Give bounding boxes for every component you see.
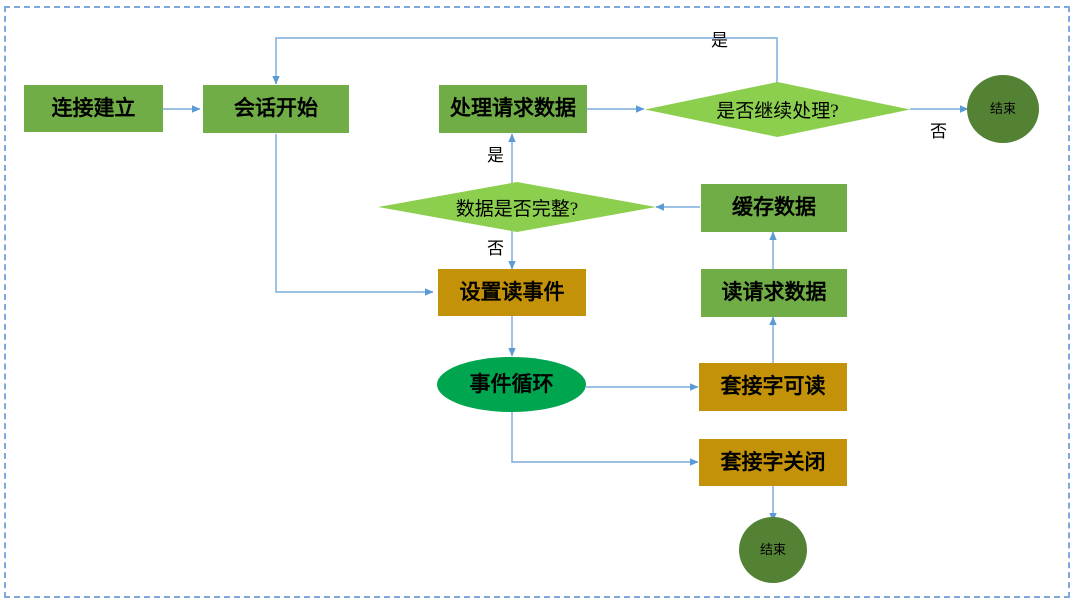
edge-label-no-complete: 否: [487, 234, 504, 259]
node-socket-closed[interactable]: 套接字关闭: [699, 439, 847, 486]
flowchart-canvas: 是 否 是 否 连接建立 会话开始 处理请求数据 是否继续处理? 结束 数据是否…: [0, 0, 1080, 611]
node-label: 套接字可读: [721, 375, 826, 398]
node-session-start[interactable]: 会话开始: [203, 85, 349, 133]
node-event-loop[interactable]: 事件循环: [437, 357, 586, 412]
node-connection-established[interactable]: 连接建立: [24, 85, 163, 132]
node-end-bottom[interactable]: 结束: [739, 517, 807, 583]
edge-cont-session-yes: [276, 38, 777, 87]
node-process-request-data[interactable]: 处理请求数据: [439, 85, 587, 133]
node-label: 设置读事件: [460, 281, 565, 304]
node-label: 结束: [760, 543, 786, 557]
edge-eventloop-sockclose: [512, 412, 698, 462]
node-socket-readable[interactable]: 套接字可读: [699, 363, 847, 411]
node-label: 会话开始: [234, 97, 318, 120]
edge-label-yes-continue: 是: [711, 26, 728, 51]
node-label: 数据是否完整?: [378, 182, 656, 232]
node-label: 连接建立: [52, 97, 136, 120]
node-label: 处理请求数据: [450, 97, 576, 120]
node-label: 缓存数据: [732, 196, 816, 219]
edge-label-no-continue: 否: [930, 117, 947, 142]
node-data-complete-decision[interactable]: 数据是否完整?: [378, 182, 656, 232]
node-cache-data[interactable]: 缓存数据: [701, 184, 847, 232]
node-read-request-data[interactable]: 读请求数据: [701, 269, 847, 317]
node-label: 事件循环: [470, 373, 554, 396]
node-continue-processing-decision[interactable]: 是否继续处理?: [645, 82, 910, 137]
node-end-top[interactable]: 结束: [967, 75, 1039, 143]
node-label: 读请求数据: [722, 281, 827, 304]
node-label: 结束: [990, 102, 1016, 116]
node-set-read-event[interactable]: 设置读事件: [438, 269, 586, 316]
node-label: 是否继续处理?: [645, 82, 910, 137]
node-label: 套接字关闭: [721, 451, 826, 474]
edge-label-yes-complete: 是: [487, 141, 504, 166]
